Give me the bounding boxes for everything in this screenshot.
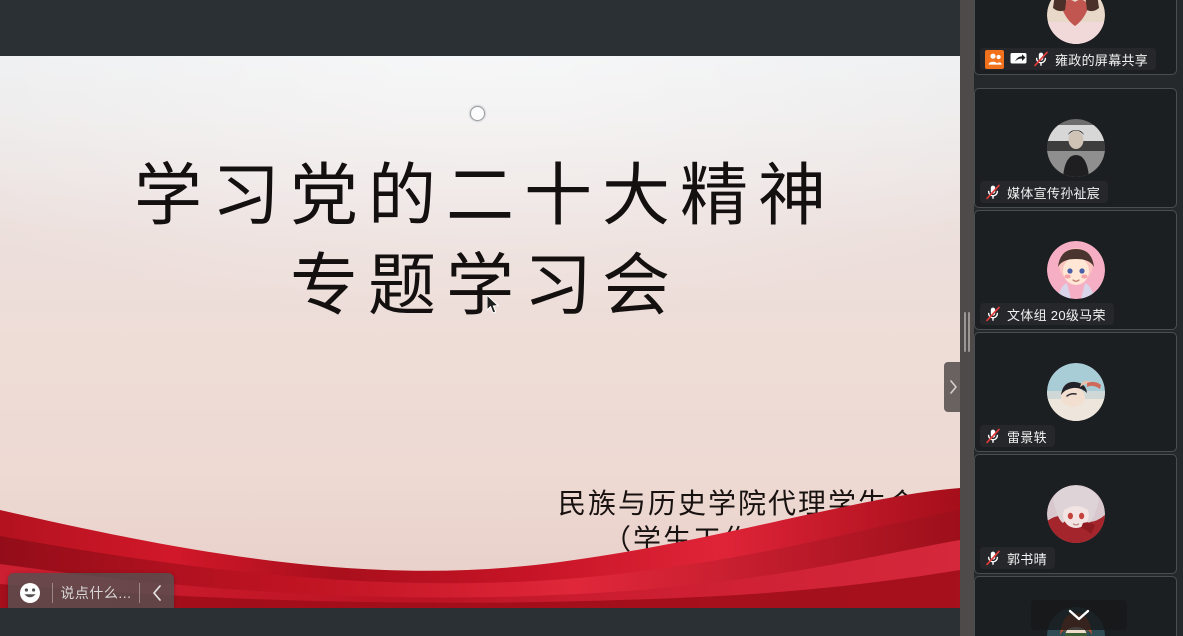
- chat-input-bar[interactable]: 说点什么...: [8, 573, 174, 608]
- chat-input-placeholder[interactable]: 说点什么...: [53, 573, 139, 608]
- mic-muted-icon: [985, 306, 1001, 322]
- mic-muted-icon: [985, 428, 1001, 444]
- participant-name-bar: 媒体宣传孙祉宸: [980, 181, 1108, 203]
- slide-title-line1: 学习党的二十大精神: [134, 157, 836, 236]
- stage-resize-handle-top[interactable]: [470, 106, 485, 121]
- meeting-window: 学习党的二十大精神 专题学习会 民族与历史学院代理学生会 （学生工作志愿者） 2…: [0, 0, 1183, 636]
- avatar: [1047, 0, 1105, 44]
- stage-top-strip: [0, 0, 960, 56]
- participant-tile[interactable]: 文体组 20级马荣: [974, 210, 1177, 330]
- participant-name-bar: 雍政的屏幕共享: [980, 48, 1156, 70]
- participant-tile[interactable]: 雷景轶: [974, 332, 1177, 452]
- participant-name-bar: 郭书晴: [980, 547, 1055, 569]
- participant-tile[interactable]: 郭书晴: [974, 454, 1177, 574]
- chevron-left-icon[interactable]: [140, 573, 174, 608]
- slide-title: 学习党的二十大精神 专题学习会: [0, 152, 960, 332]
- screen-share-icon: [1010, 52, 1027, 66]
- avatar: [1047, 241, 1105, 299]
- mic-muted-icon: [985, 550, 1001, 566]
- stage-bottom-strip: [0, 608, 960, 636]
- panel-divider-grip[interactable]: [964, 312, 970, 352]
- participant-tile[interactable]: 雍政的屏幕共享: [974, 0, 1177, 75]
- avatar: [1047, 363, 1105, 421]
- avatar: [1047, 485, 1105, 543]
- mic-muted-icon: [985, 184, 1001, 200]
- participant-name: 文体组 20级马荣: [1007, 305, 1106, 324]
- mic-muted-icon: [1033, 51, 1049, 67]
- participant-name: 郭书晴: [1007, 549, 1047, 568]
- participant-name-bar: 雷景轶: [980, 425, 1055, 447]
- participant-name-bar: 文体组 20级马荣: [980, 303, 1114, 325]
- slide-title-line2: 专题学习会: [0, 242, 960, 332]
- avatar: [1047, 119, 1105, 177]
- participant-name: 雷景轶: [1007, 427, 1047, 446]
- chevron-down-icon[interactable]: [1031, 600, 1127, 630]
- shared-screen-stage[interactable]: 学习党的二十大精神 专题学习会 民族与历史学院代理学生会 （学生工作志愿者） 2…: [0, 56, 960, 608]
- chevron-right-icon[interactable]: [944, 362, 960, 412]
- participant-name: 雍政的屏幕共享: [1055, 50, 1148, 69]
- emoji-smile-icon[interactable]: [8, 573, 52, 608]
- participants-filmstrip[interactable]: 雍政的屏幕共享: [974, 0, 1183, 636]
- presentation-slide: 学习党的二十大精神 专题学习会 民族与历史学院代理学生会 （学生工作志愿者） 2…: [0, 56, 960, 608]
- participant-tile[interactable]: 媒体宣传孙祉宸: [974, 88, 1177, 208]
- participants-icon: [985, 50, 1004, 69]
- participant-name: 媒体宣传孙祉宸: [1007, 183, 1100, 202]
